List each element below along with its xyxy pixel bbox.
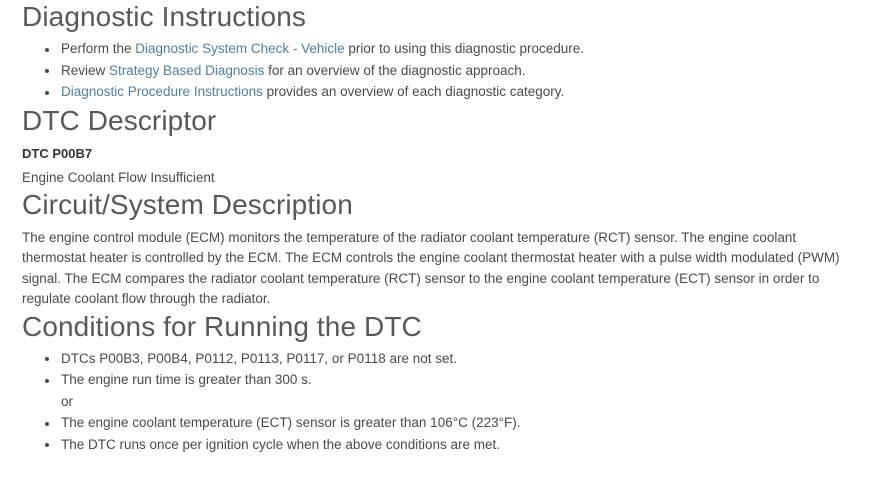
bullet-text-prefix: Review bbox=[61, 63, 109, 78]
link-diagnostic-procedure-instructions[interactable]: Diagnostic Procedure Instructions bbox=[61, 84, 263, 99]
section-heading-dtc-descriptor: DTC Descriptor bbox=[22, 104, 871, 138]
bullet-text-suffix: provides an overview of each diagnostic … bbox=[263, 84, 564, 99]
page-title-diagnostic-instructions: Diagnostic Instructions bbox=[22, 0, 871, 34]
link-strategy-based-diagnosis[interactable]: Strategy Based Diagnosis bbox=[109, 63, 264, 78]
dtc-description: Engine Coolant Flow Insufficient bbox=[22, 168, 871, 188]
dtc-code: DTC P00B7 bbox=[22, 144, 871, 163]
service-manual-page: Diagnostic Instructions Perform the Diag… bbox=[0, 0, 889, 498]
list-item: The DTC runs once per ignition cycle whe… bbox=[22, 435, 871, 456]
circuit-system-description-paragraph: The engine control module (ECM) monitors… bbox=[22, 228, 860, 310]
list-item: Diagnostic Procedure Instructions provid… bbox=[22, 82, 871, 103]
diagnostic-instructions-list: Perform the Diagnostic System Check - Ve… bbox=[22, 39, 871, 103]
bullet-text-prefix: Perform the bbox=[61, 41, 135, 56]
section-heading-conditions-for-running-the-dtc: Conditions for Running the DTC bbox=[22, 310, 871, 344]
section-heading-circuit-system-description: Circuit/System Description bbox=[22, 188, 871, 222]
bullet-text-suffix: for an overview of the diagnostic approa… bbox=[264, 63, 525, 78]
link-diagnostic-system-check-vehicle[interactable]: Diagnostic System Check - Vehicle bbox=[135, 41, 344, 56]
list-item-conjunction: or bbox=[22, 392, 871, 413]
bullet-text-suffix: prior to using this diagnostic procedure… bbox=[345, 41, 584, 56]
list-item: The engine coolant temperature (ECT) sen… bbox=[22, 413, 871, 434]
list-item: Review Strategy Based Diagnosis for an o… bbox=[22, 61, 871, 82]
conditions-list: DTCs P00B3, P00B4, P0112, P0113, P0117, … bbox=[22, 349, 871, 456]
list-item: The engine run time is greater than 300 … bbox=[22, 370, 871, 391]
list-item: Perform the Diagnostic System Check - Ve… bbox=[22, 39, 871, 60]
list-item: DTCs P00B3, P00B4, P0112, P0113, P0117, … bbox=[22, 349, 871, 370]
